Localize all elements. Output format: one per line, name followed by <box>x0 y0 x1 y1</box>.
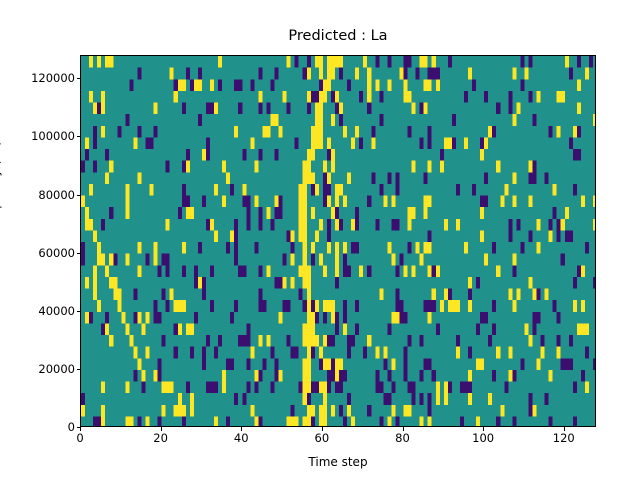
x-tick-mark <box>403 427 404 431</box>
y-tick-label: 0 <box>68 421 75 433</box>
x-tick-label: 100 <box>472 432 494 445</box>
y-tick-mark <box>77 78 81 79</box>
y-tick-label: 120000 <box>31 72 75 84</box>
x-tick-label: 0 <box>76 432 83 445</box>
y-tick-mark <box>77 195 81 196</box>
x-tick-label: 60 <box>315 432 330 445</box>
x-tick-mark <box>241 427 242 431</box>
x-tick-label: 120 <box>553 432 575 445</box>
x-axis-label: Time step <box>80 455 596 469</box>
x-tick-mark <box>564 427 565 431</box>
heatmap-axes <box>80 55 596 427</box>
y-tick-label: 80000 <box>38 189 75 201</box>
y-tick-mark <box>77 311 81 312</box>
heatmap-image <box>81 56 596 427</box>
x-tick-label: 80 <box>395 432 410 445</box>
y-tick-label: 20000 <box>38 363 75 375</box>
y-tick-label: 40000 <box>38 305 75 317</box>
y-axis-label: Frequency (Hz) <box>0 86 2 286</box>
page-title: Predicted : La <box>80 27 596 45</box>
x-tick-mark <box>80 427 81 431</box>
x-tick-mark <box>161 427 162 431</box>
y-tick-mark <box>77 369 81 370</box>
matplotlib-figure: Predicted : La Frequency (Hz) Time step … <box>0 0 640 480</box>
y-tick-label: 100000 <box>31 130 75 142</box>
x-tick-label: 20 <box>153 432 168 445</box>
y-tick-label: 60000 <box>38 247 75 259</box>
y-tick-mark <box>77 253 81 254</box>
x-tick-mark <box>322 427 323 431</box>
y-tick-mark <box>77 136 81 137</box>
x-tick-label: 40 <box>234 432 249 445</box>
x-tick-mark <box>483 427 484 431</box>
